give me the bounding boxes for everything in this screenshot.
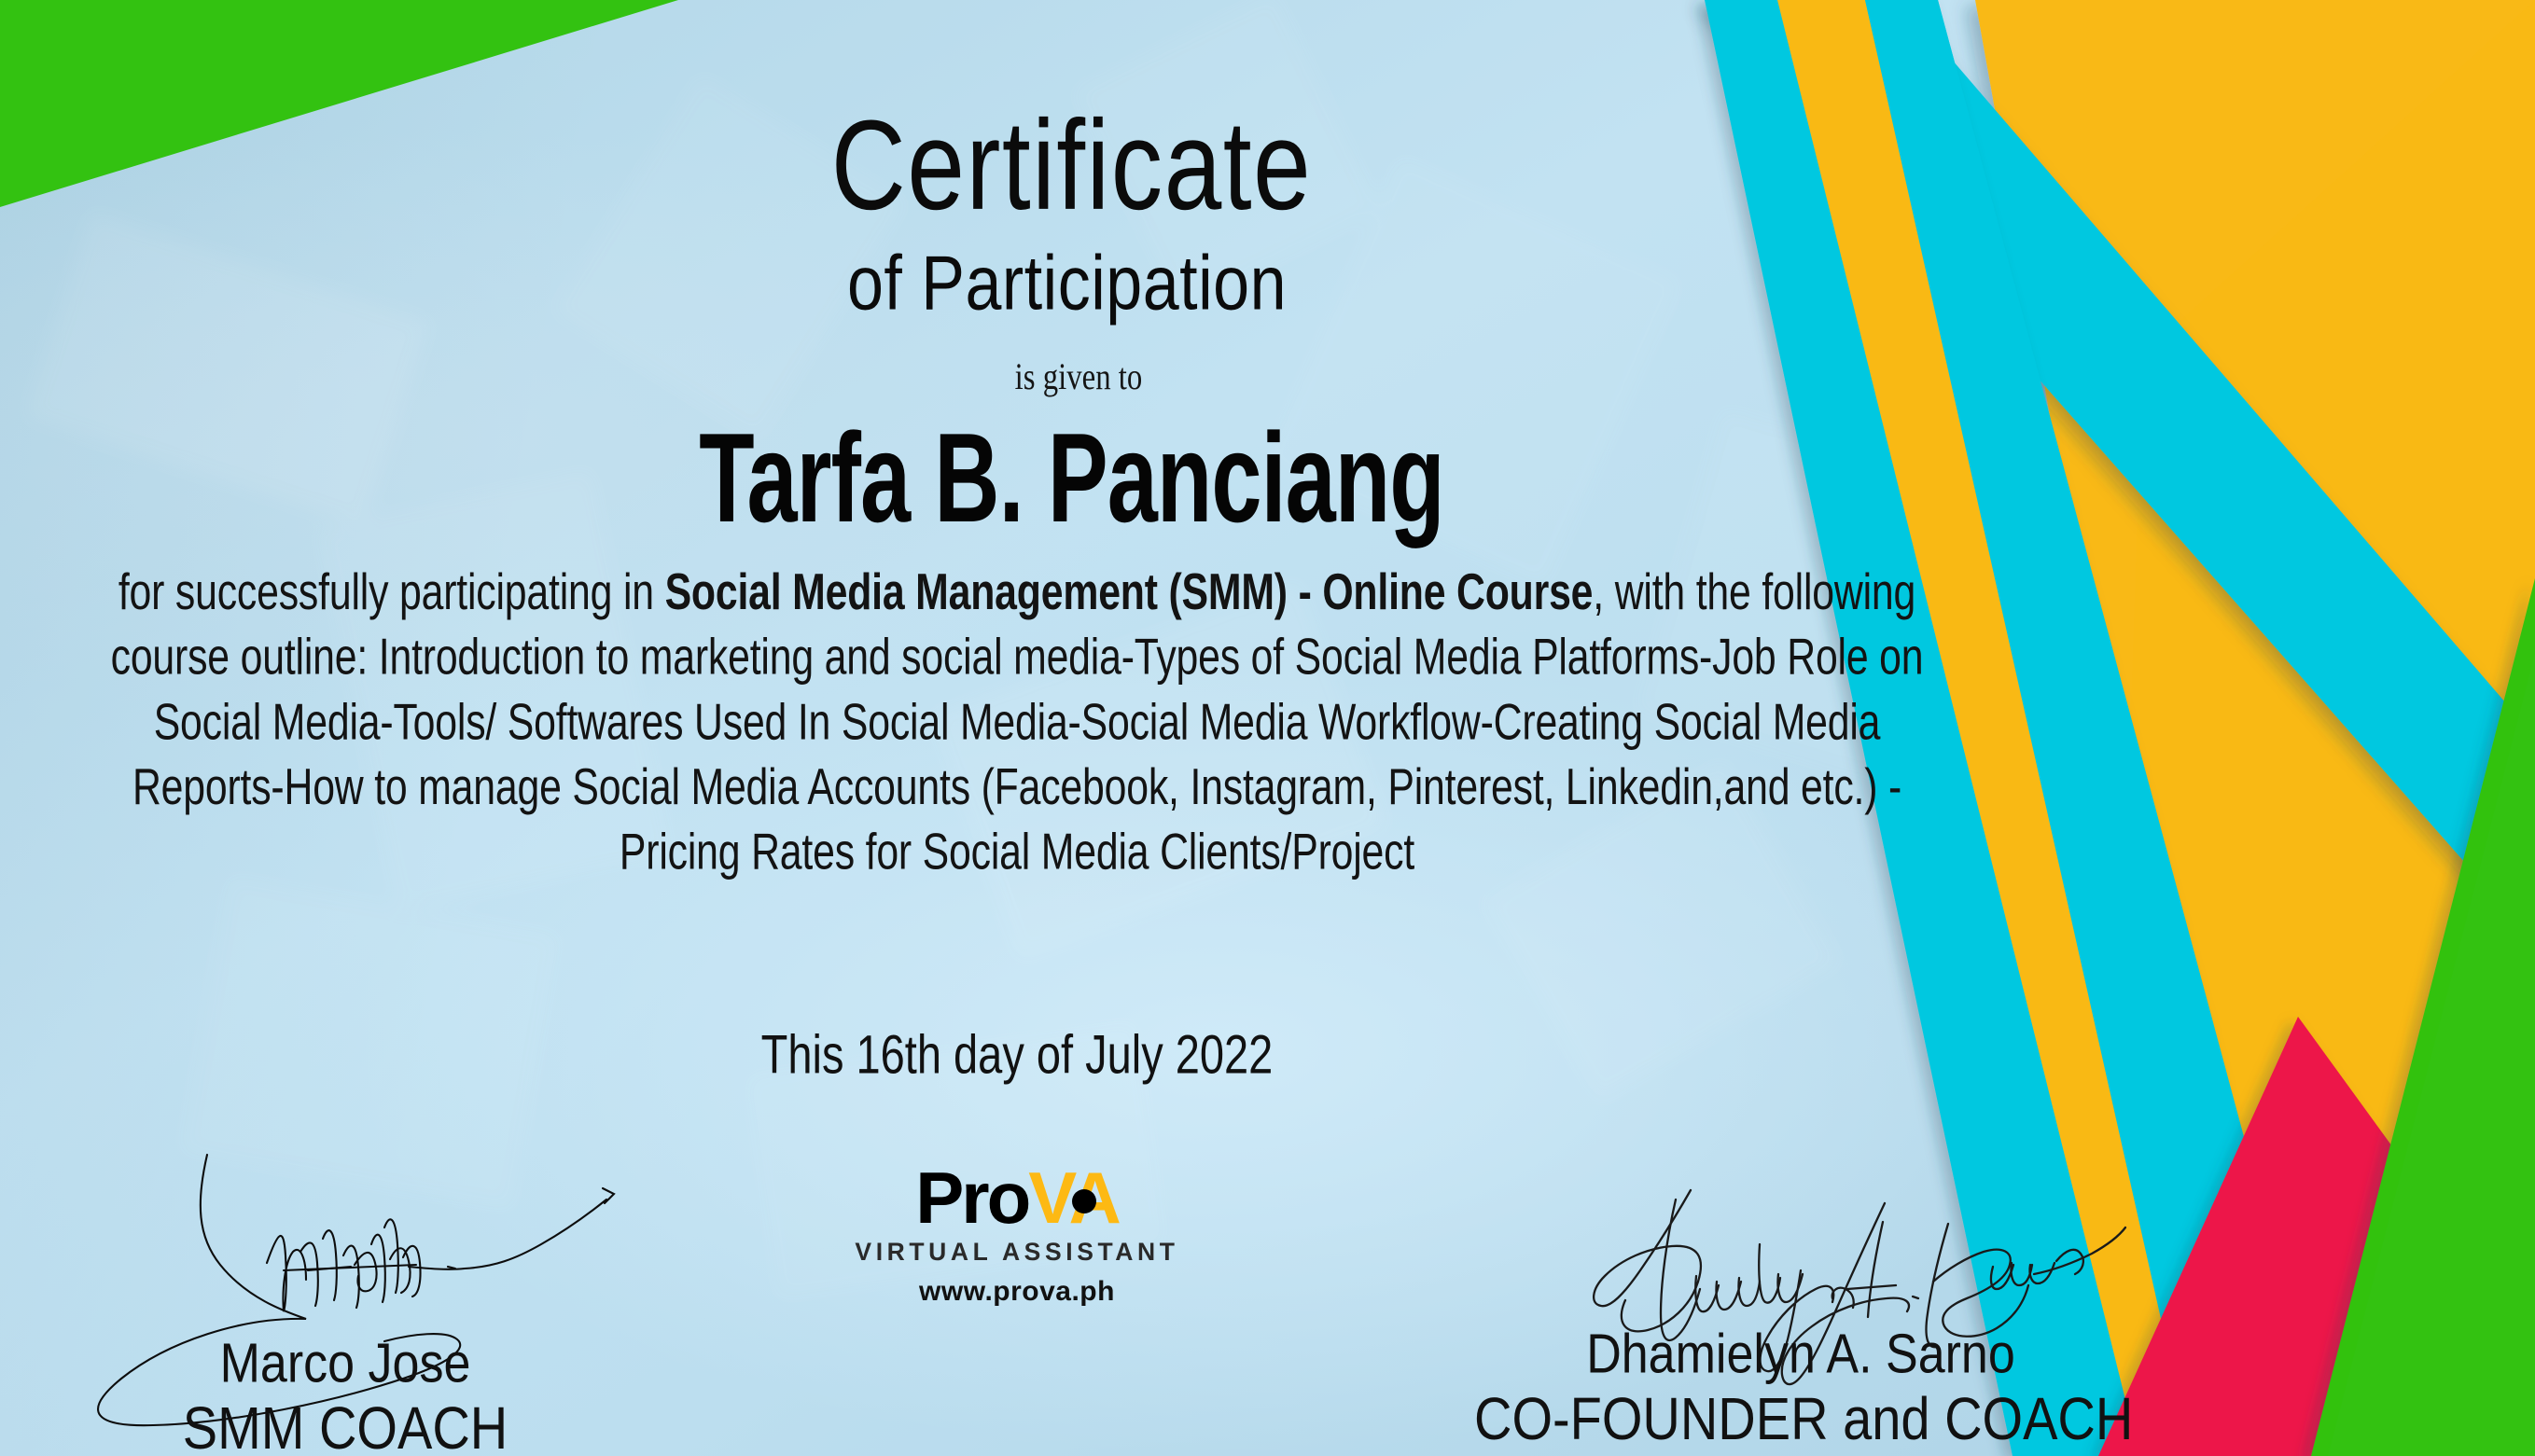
signature-block-left: Marco Jose SMM COACH (56, 1147, 634, 1456)
signature-role-right: CO-FOUNDER and COACH (1474, 1383, 2127, 1453)
logo-tagline: VIRTUAL ASSISTANT (821, 1238, 1213, 1267)
signature-role-left: SMM COACH (56, 1393, 634, 1456)
citation-paragraph: for successfully participating in Social… (106, 560, 1929, 884)
recipient-name: Tarfa B. Panciang (0, 404, 2389, 551)
logo-wordmark: ProVA (915, 1161, 1119, 1234)
logo-dot-icon (1072, 1189, 1096, 1213)
prova-logo: ProVA VIRTUAL ASSISTANT www.prova.ph (821, 1161, 1213, 1308)
signature-name-left: Marco Jose (56, 1332, 634, 1396)
issue-date: This 16th day of July 2022 (96, 1023, 1938, 1086)
signature-name-right: Dhamielyn A. Sarno (1474, 1323, 2127, 1387)
given-to-label: is given to (0, 354, 2273, 398)
citation-prefix: for successfully participating in (118, 563, 665, 620)
logo-word-pro: Pro (915, 1157, 1028, 1239)
course-name: Social Media Management (SMM) - Online C… (665, 563, 1594, 620)
logo-website-url: www.prova.ph (821, 1276, 1213, 1308)
certificate-canvas: Certificate of Participation is given to… (0, 0, 2535, 1456)
signature-block-right: Dhamielyn A. Sarno CO-FOUNDER and COACH (1474, 1185, 2127, 1449)
